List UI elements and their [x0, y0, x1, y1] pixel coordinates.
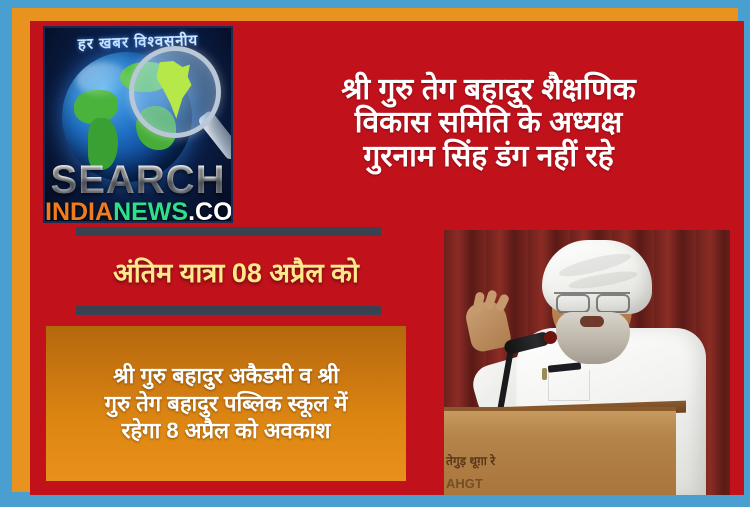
separator-bar-top [76, 227, 381, 236]
notice-line-1: श्री गुरु बहादुर अकैडमी व श्री [113, 362, 339, 390]
logo-brand-com: .COM [188, 198, 233, 223]
podium: तेगुड़ थूग़ा रे AHGT [444, 407, 676, 495]
notice-line-2: गुरु तेग बहादुर पब्लिक स्कूल में [105, 390, 348, 418]
headline-line-3: गुरनाम सिंह डंग नहीं रहे [363, 140, 613, 174]
logo-brand-news: NEWS [113, 198, 188, 223]
speaker-photo: तेगुड़ थूग़ा रे AHGT [444, 230, 730, 495]
headline-line-1: श्री गुरु तेग बहादुर शैक्षणिक [341, 73, 636, 107]
subhead-text: अंतिम यात्रा 08 अप्रैल को [46, 241, 426, 301]
globe-highlight [76, 62, 128, 96]
lens-right [596, 294, 630, 313]
poster-content: हर खबर विश्वसनीय SEARCH INDIANEWS.COM श् [30, 21, 744, 495]
podium-text-line-1: तेगुड़ थूग़ा रे [446, 452, 495, 469]
lens-left [556, 294, 590, 313]
logo-brand-primary: SEARCH [45, 158, 231, 203]
mouth [580, 316, 604, 327]
shirt-pocket [548, 370, 590, 401]
logo-brand-india: INDIA [45, 198, 113, 223]
pocket-pen-2 [542, 368, 547, 380]
headline: श्री गुरु तेग बहादुर शैक्षणिक विकास समित… [236, 25, 741, 221]
magnifier-icon [129, 46, 221, 138]
logo-brand-domain: INDIANEWS.COM [45, 198, 231, 223]
india-map-icon [155, 61, 193, 121]
headline-line-2: विकास समिति के अध्यक्ष [355, 106, 623, 140]
eyeglasses [554, 292, 630, 310]
notice-line-3: रहेगा 8 अप्रैल को अवकाश [122, 417, 331, 445]
site-logo[interactable]: हर खबर विश्वसनीय SEARCH INDIANEWS.COM [43, 26, 233, 223]
separator-bar-bottom [76, 306, 381, 315]
orange-frame: हर खबर विश्वसनीय SEARCH INDIANEWS.COM श् [12, 8, 738, 492]
logo-tagline: हर खबर विश्वसनीय [45, 29, 232, 55]
podium-text-line-2: AHGT [446, 476, 483, 491]
news-poster: हर खबर विश्वसनीय SEARCH INDIANEWS.COM श् [0, 0, 750, 507]
notice-box: श्री गुरु बहादुर अकैडमी व श्री गुरु तेग … [46, 326, 406, 481]
